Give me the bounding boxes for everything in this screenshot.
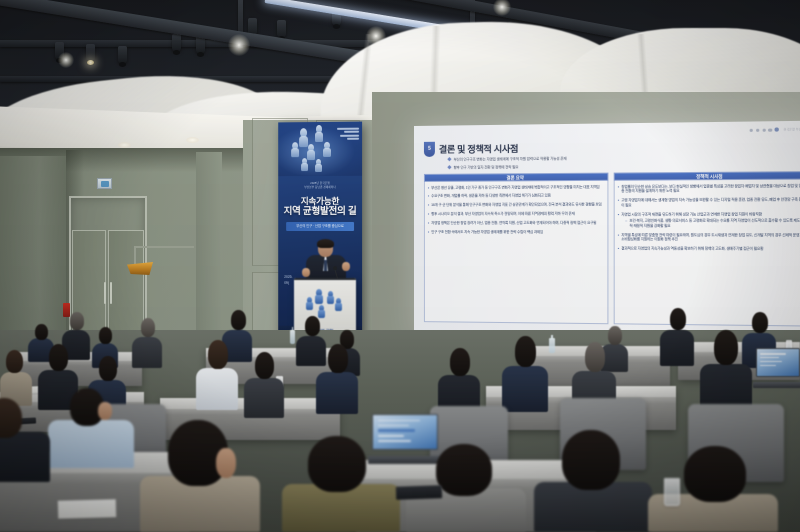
slide-bullet: • 자영업 정책은 단순한 창업 장려가 아닌, 업종 전환, 연착륙 지원, … bbox=[428, 221, 604, 226]
podium-artwork bbox=[302, 288, 346, 318]
slide-bullet-text: 고령 자영업자에 대해서는 생계형 영업의 지속 가능성을 보완할 수 있는 디… bbox=[621, 198, 800, 208]
bullet-icon: • bbox=[428, 212, 429, 217]
attendee-face bbox=[98, 402, 112, 420]
slide-logo-text: 한국은행 부산본부 bbox=[784, 127, 800, 131]
column-body-policy: • 창업률의 단순한 상승 유도보다는, 보다 현실적인 방향에서 업종별 특성… bbox=[614, 180, 800, 327]
slide-subtitle-item: 향후 인구 기반의 일자 전환 및 정책에 전략 필요 bbox=[448, 163, 567, 169]
door-handle[interactable] bbox=[110, 282, 112, 304]
attendee-head bbox=[670, 308, 686, 330]
attendee-face bbox=[216, 448, 236, 478]
slide-column-left: 결론 요약 • 부산은 청년 유출, 고령화, 1인 가구 증가 등 인구구조 … bbox=[424, 173, 608, 325]
water-bottle bbox=[290, 330, 295, 344]
laptop-screen bbox=[756, 348, 800, 377]
banner-figure-body bbox=[307, 150, 315, 160]
recessed-downlight-icon bbox=[186, 137, 199, 143]
diamond-bullet-icon bbox=[447, 157, 451, 161]
slide-bullet-text: 인구 구조 전환 속에서도 지속 가능한 자영업 생태계를 위한 전략 수립이 … bbox=[431, 230, 543, 235]
slide-logo-row: 한국은행 부산본부 bbox=[750, 127, 800, 132]
laptop-base bbox=[753, 382, 800, 388]
attendee bbox=[196, 340, 238, 410]
bullet-icon: • bbox=[618, 198, 619, 207]
slide-bullet-text: 16개 구·군 단위 분석을 통해 인구구조 변화와 자영업 지표 간 상관관계… bbox=[431, 203, 601, 208]
attendee-head bbox=[714, 330, 738, 365]
slide-sub-bullet-list: – 보건·복지, 고령친화식품, 생활·의료서비스 등 고령화로 확대되는 수요… bbox=[625, 218, 800, 228]
slide-content: 한국은행 부산본부 5 결론 및 정책적 시사점 부산의 인구구조 변화는 자영… bbox=[414, 121, 800, 342]
banner-date: 2025. 09( bbox=[284, 274, 292, 287]
attendee bbox=[316, 344, 358, 414]
bullet-icon: • bbox=[428, 230, 429, 235]
slide-bullet: • 고령 자영업자에 대해서는 생계형 영업의 지속 가능성을 보완할 수 있는… bbox=[618, 198, 800, 208]
track-spotlight-icon bbox=[277, 20, 286, 37]
attendee bbox=[140, 420, 260, 532]
attendee bbox=[48, 388, 134, 468]
attendee-body bbox=[244, 378, 284, 418]
slide-bullet-text: 향후 시나리오 분석 결과, 부산 자영업의 지속적 축소가 전망되며, 이에 … bbox=[431, 212, 574, 217]
attendee-body bbox=[0, 432, 50, 482]
presenter-tie bbox=[324, 260, 327, 271]
attendee-head bbox=[585, 342, 605, 372]
attendee-head bbox=[6, 350, 23, 373]
attendee-body bbox=[502, 366, 548, 412]
attendee-head bbox=[35, 324, 48, 340]
banner-figure-body bbox=[323, 148, 331, 157]
dash-bullet-icon: – bbox=[625, 219, 627, 228]
podium-figure-body bbox=[315, 295, 323, 304]
podium-top-surface bbox=[294, 278, 356, 280]
slide-bullet: • 향후 시나리오 분석 결과, 부산 자영업의 지속적 축소가 전망되며, 이… bbox=[428, 212, 604, 217]
slide-title: 결론 및 정책적 시사점 bbox=[439, 142, 518, 156]
presenter-hand bbox=[302, 268, 310, 277]
bullet-icon: • bbox=[618, 184, 619, 193]
bullet-icon: • bbox=[618, 233, 619, 242]
presenter-hand bbox=[342, 262, 350, 271]
slide-number-badge: 5 bbox=[424, 142, 435, 157]
water-bottle bbox=[549, 338, 555, 353]
banner-subtitle: 2025년 한국은행 부산본부 동남권 경제세미나 bbox=[278, 182, 362, 190]
logo-dot-icon bbox=[768, 128, 772, 132]
attendee-body bbox=[132, 337, 162, 368]
bullet-icon: • bbox=[428, 194, 429, 199]
attendee-body bbox=[660, 330, 694, 366]
slide-bullet: • 수요구조 변화, 개업률 하락, 생존율 저하 등 다양한 측면에서 자영업… bbox=[428, 194, 604, 199]
smartphone bbox=[396, 485, 442, 500]
attendee-head bbox=[305, 316, 320, 336]
slide-subtitles: 부산의 인구구조 변화는 자영업 생태계에 구조적 차원 압력으로 작용할 가능… bbox=[448, 156, 567, 172]
banner-title-line2: 지역 균형발전의 길 bbox=[278, 206, 362, 217]
banner-figure-body bbox=[315, 164, 322, 172]
sconce-bar bbox=[134, 246, 194, 248]
attendee-head bbox=[308, 436, 366, 492]
laptop-computer[interactable] bbox=[756, 348, 800, 388]
banner-ribbon: 부산의 인구 · 산업 구조를 중심으로 bbox=[286, 222, 354, 231]
bullet-icon: • bbox=[618, 212, 619, 217]
attendee bbox=[0, 398, 50, 482]
slide-bullet-text: 창업률의 단순한 상승 유도보다는, 보다 현실적인 방향에서 업종별 특성을 … bbox=[621, 183, 800, 193]
diamond-bullet-icon bbox=[447, 165, 451, 169]
slide-bullet: • 부산은 청년 유출, 고령화, 1인 가구 증가 등 인구구조 변화가 자영… bbox=[428, 184, 604, 190]
banner-figure-body bbox=[301, 163, 308, 171]
presenter-hair bbox=[317, 239, 334, 248]
podium-figure-body bbox=[327, 296, 334, 304]
attendee bbox=[534, 430, 652, 532]
attendee-head bbox=[70, 312, 84, 330]
ceiling-light-glow bbox=[228, 34, 250, 56]
banner-figure-body bbox=[291, 148, 299, 157]
attendee-head bbox=[99, 327, 112, 344]
slide-bullet: • 창업률의 단순한 상승 유도보다는, 보다 현실적인 방향에서 업종별 특성… bbox=[618, 183, 800, 193]
slide-subtitle-text: 향후 인구 기반의 일자 전환 및 정책에 전략 필요 bbox=[454, 164, 519, 170]
logo-dot-icon bbox=[762, 128, 766, 132]
slide-bullet-text: 결과적으로 자영업의 지속가능성과 역동성을 확보하기 위해 정책의 고도화, … bbox=[621, 247, 763, 252]
attendee-head bbox=[255, 352, 274, 379]
attendee-head bbox=[141, 318, 155, 337]
attendee-head bbox=[752, 312, 768, 333]
attendee-head bbox=[684, 446, 746, 502]
slide-bullet: • 인구 구조 전환 속에서도 지속 가능한 자영업 생태계를 위한 전략 수립… bbox=[428, 230, 604, 235]
slide-sub-bullet-text: 보건·복지, 고령친화식품, 생활·의료서비스 등 고령화로 확대되는 수요를 … bbox=[629, 218, 800, 228]
banner-title-line1: 지속가능한 bbox=[278, 196, 362, 206]
door-handle[interactable] bbox=[104, 282, 106, 304]
attendee-head bbox=[436, 444, 492, 496]
slide-bullet: • 결과적으로 자영업의 지속가능성과 역동성을 확보하기 위해 정책의 고도화… bbox=[618, 247, 800, 252]
banner-title: 지속가능한 지역 균형발전의 길 bbox=[278, 196, 362, 218]
attendee-body bbox=[196, 368, 238, 410]
water-glass bbox=[664, 478, 680, 506]
track-spotlight-icon bbox=[86, 44, 95, 61]
attendee-head bbox=[231, 310, 246, 330]
attendee-body bbox=[316, 372, 358, 414]
attendee bbox=[244, 352, 284, 418]
attendee-head bbox=[515, 336, 536, 367]
slide-sub-bullet: – 보건·복지, 고령친화식품, 생활·의료서비스 등 고령화로 확대되는 수요… bbox=[625, 218, 800, 228]
bullet-icon: • bbox=[428, 203, 429, 208]
bank-logo-icon bbox=[775, 127, 780, 132]
attendee bbox=[132, 318, 162, 368]
banner-figure-body bbox=[299, 136, 308, 147]
bank-logo-icon bbox=[331, 126, 359, 148]
bullet-icon: • bbox=[618, 247, 619, 252]
slide-bullet-text: 지역별 특성에 따른 맞춤형 전략 마련이 필요하며, 원도심의 경우 도시재생… bbox=[621, 233, 800, 243]
slide-bullet-text: 자영업 정책은 단순한 창업 장려가 아닌, 업종 전환, 연착륙 지원, 산업… bbox=[431, 221, 596, 226]
slide-bullet-text: 자영업 시장의 구조적 재편을 유도하기 위해 성장 가능 산업군과 연계한 자… bbox=[621, 212, 762, 217]
attendee bbox=[660, 308, 694, 366]
banner-figure-body bbox=[315, 132, 323, 142]
slide-bullet: • 지역별 특성에 따른 맞춤형 전략 마련이 필요하며, 원도심의 경우 도시… bbox=[618, 233, 800, 243]
banner-subtitle-line2: 부산본부 동남권 경제세미나 bbox=[278, 186, 362, 190]
bullet-icon: • bbox=[428, 185, 429, 190]
slide-bullet-text: 수요구조 변화, 개업률 하락, 생존율 저하 등 다양한 측면에서 자영업 위… bbox=[431, 194, 551, 199]
sconce-arm bbox=[134, 248, 136, 266]
seminar-photo-scene: 2025년 한국은행 부산본부 동남권 경제세미나 지속가능한 지역 균형발전의… bbox=[0, 0, 800, 532]
attendee-body bbox=[48, 420, 134, 468]
slide-subtitle-text: 부산의 인구구조 변화는 자영업 생태계에 구조적 차원 압력으로 작용할 가능… bbox=[454, 156, 567, 162]
attendee bbox=[282, 436, 400, 532]
ceiling-light-glow bbox=[58, 52, 74, 68]
attendee bbox=[502, 336, 548, 412]
logo-dot-icon bbox=[756, 128, 760, 132]
attendee-head bbox=[450, 348, 470, 376]
slide-bullet: • 자영업 시장의 구조적 재편을 유도하기 위해 성장 가능 산업군과 연계한… bbox=[618, 212, 800, 217]
attendee-head bbox=[99, 356, 117, 381]
column-body-conclusions: • 부산은 청년 유출, 고령화, 1인 가구 증가 등 인구구조 변화가 자영… bbox=[424, 181, 608, 324]
slide-bullet-text: 부산은 청년 유출, 고령화, 1인 가구 증가 등 인구구조 변화가 자영업 … bbox=[431, 184, 599, 190]
slide-column-right: 정책적 시사점 • 창업률의 단순한 상승 유도보다는, 보다 현실적인 방향에… bbox=[614, 171, 800, 326]
attendee-head bbox=[562, 430, 620, 490]
logo-dot-icon bbox=[750, 128, 754, 132]
attendee-head bbox=[208, 340, 228, 369]
track-spotlight-icon bbox=[118, 46, 127, 63]
podium-figure-body bbox=[306, 302, 313, 310]
slide-bullet: • 16개 구·군 단위 분석을 통해 인구구조 변화와 자영업 지표 간 상관… bbox=[428, 203, 604, 208]
podium-figure-body bbox=[335, 303, 342, 311]
exit-sign-icon bbox=[97, 178, 112, 189]
track-spotlight-icon bbox=[172, 34, 181, 51]
banner-date-line2: 09( bbox=[284, 280, 292, 286]
attendee-head bbox=[328, 344, 348, 373]
bullet-icon: • bbox=[428, 221, 429, 226]
slide-two-column-layout: 결론 요약 • 부산은 청년 유출, 고령화, 1인 가구 증가 등 인구구조 … bbox=[424, 171, 800, 326]
projection-screen: 한국은행 부산본부 5 결론 및 정책적 시사점 부산의 인구구조 변화는 자영… bbox=[414, 121, 800, 342]
slide-subtitle-item: 부산의 인구구조 변화는 자영업 생태계에 구조적 차원 압력으로 작용할 가능… bbox=[448, 156, 567, 162]
attendee-head bbox=[49, 344, 68, 371]
handout-paper bbox=[58, 499, 116, 519]
